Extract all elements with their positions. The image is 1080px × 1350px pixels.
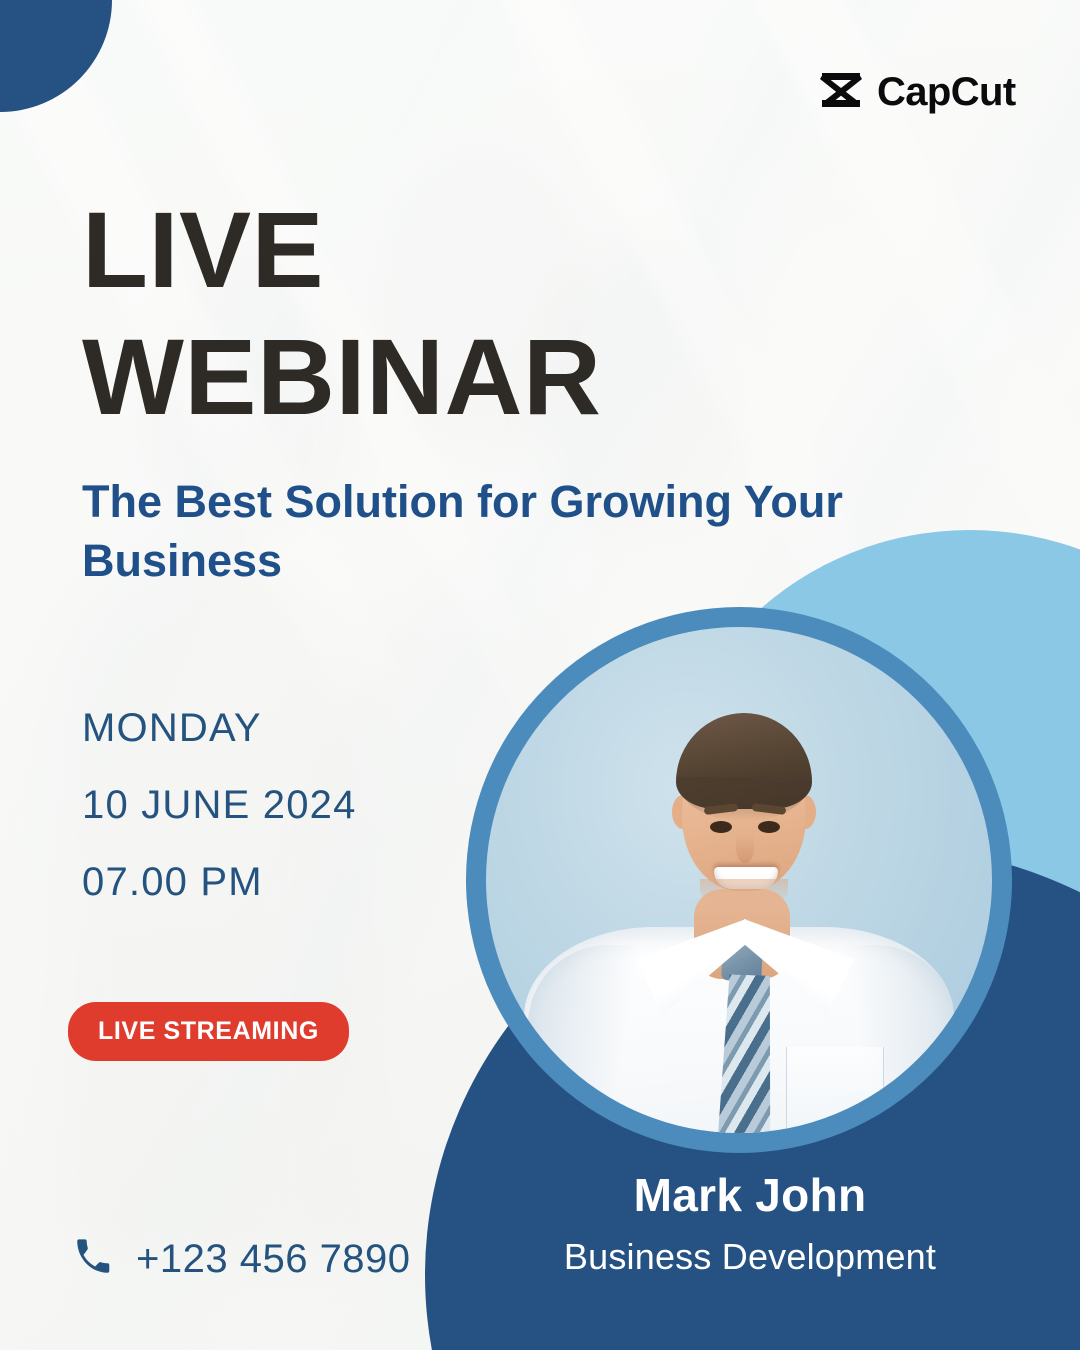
schedule-time: 07.00 PM — [82, 860, 357, 905]
headline-line-2: WEBINAR — [82, 313, 601, 440]
speaker-portrait-ring — [466, 607, 1012, 1153]
phone-number: +123 456 7890 — [136, 1237, 411, 1282]
capcut-wordmark: CapCut — [877, 70, 1016, 115]
speaker-role: Business Development — [440, 1236, 1060, 1278]
speaker-portrait — [486, 627, 992, 1133]
schedule-date: 10 JUNE 2024 — [82, 783, 357, 828]
portrait-chin — [700, 879, 788, 905]
phone-icon — [72, 1236, 114, 1283]
portrait-nose — [736, 833, 754, 863]
contact-phone[interactable]: +123 456 7890 — [72, 1236, 411, 1283]
speaker-info: Mark John Business Development — [440, 1168, 1060, 1278]
live-streaming-badge[interactable]: LIVE STREAMING — [68, 1002, 349, 1061]
schedule-day: MONDAY — [82, 706, 357, 751]
portrait-shirt-shadow-left — [528, 945, 648, 1133]
page-title: LIVE WEBINAR — [82, 186, 601, 441]
headline-line-1: LIVE — [82, 186, 601, 313]
capcut-logo: CapCut — [818, 70, 1016, 115]
schedule-block: MONDAY 10 JUNE 2024 07.00 PM — [82, 706, 357, 937]
portrait-eye-left — [710, 821, 732, 833]
speaker-name: Mark John — [440, 1168, 1060, 1222]
portrait-shirt-pocket — [786, 1047, 884, 1133]
webinar-poster: CapCut LIVE WEBINAR The Best Solution fo… — [0, 0, 1080, 1350]
capcut-clapper-icon — [818, 70, 864, 115]
portrait-eye-right — [758, 821, 780, 833]
subtitle: The Best Solution for Growing Your Busin… — [82, 472, 852, 591]
